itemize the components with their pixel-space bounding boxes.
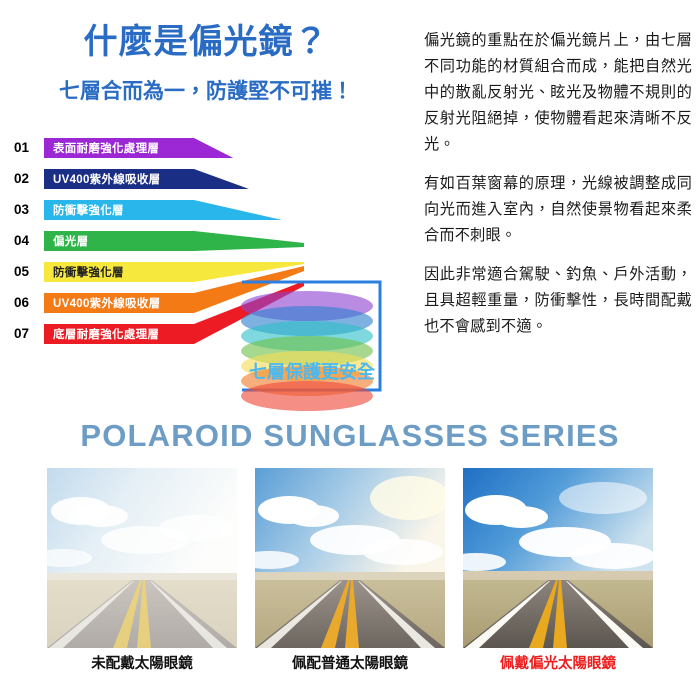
series-heading: POLAROID SUNGLASSES SERIES (0, 418, 700, 454)
layer-number: 05 (14, 264, 40, 279)
layer-number: 01 (14, 140, 40, 155)
article-paragraph-2: 有如百葉窗幕的原理，光線被調整成同向光而進入室內，自然使景物看起來柔合而不刺眼。 (424, 171, 692, 249)
article-column: 偏光鏡的重點在於偏光鏡片上，由七層不同功能的材質組合而成，能把自然光中的散亂反射… (424, 28, 692, 353)
layer-label: 底層耐磨強化處理層 (44, 326, 159, 342)
layer-taper-icon (194, 231, 304, 251)
layer-label: 表面耐磨強化處理層 (44, 140, 159, 156)
layer-band-body: 防衝擊強化層 (44, 262, 194, 282)
photo-caption: 未配戴太陽眼鏡 (47, 652, 237, 673)
page-subtitle: 七層合而為一，防護堅不可摧！ (0, 75, 412, 105)
headline-block: 什麼是偏光鏡？ 七層合而為一，防護堅不可摧！ (0, 24, 412, 105)
layer-band-body: 底層耐磨強化處理層 (44, 324, 194, 344)
layer-number: 06 (14, 295, 40, 310)
lens-disc-stack-icon (232, 288, 382, 418)
layer-row: 02 UV400紫外線吸收層 (14, 169, 414, 191)
layer-number: 02 (14, 171, 40, 186)
page-title: 什麼是偏光鏡？ (0, 24, 412, 61)
layer-label: 防衝擊強化層 (44, 202, 124, 218)
layer-row: 03 防衝擊強化層 (14, 200, 414, 222)
layer-label: UV400紫外線吸收層 (44, 295, 160, 311)
road-no-sunglasses (47, 468, 237, 648)
layer-band-body: 偏光層 (44, 231, 194, 251)
layer-band-body: 防衝擊強化層 (44, 200, 194, 220)
layer-number: 07 (14, 326, 40, 341)
layer-number: 04 (14, 233, 40, 248)
article-paragraph-1: 偏光鏡的重點在於偏光鏡片上，由七層不同功能的材質組合而成，能把自然光中的散亂反射… (424, 28, 692, 158)
layer-label: UV400紫外線吸收層 (44, 171, 160, 187)
layer-label: 偏光層 (44, 233, 88, 249)
photo-caption-row: 未配戴太陽眼鏡 佩配普通太陽眼鏡 佩戴偏光太陽眼鏡 (47, 652, 653, 680)
photo-caption: 佩戴偏光太陽眼鏡 (463, 652, 653, 673)
seven-layer-diagram: 01 表面耐磨強化處理層 02 UV400紫外線吸收層 (0, 138, 420, 378)
layer-row: 04 偏光層 (14, 231, 414, 253)
article-paragraph-3: 因此非常適合駕駛、釣魚、戶外活動，且具超輕重量，防衝擊性，長時間配戴也不會感到不… (424, 262, 692, 340)
layer-number: 03 (14, 202, 40, 217)
seven-layer-caption: 七層保護更安全 (222, 358, 402, 384)
layer-label: 防衝擊強化層 (44, 264, 124, 280)
layer-band-body: UV400紫外線吸收層 (44, 293, 194, 313)
poster-root: 什麼是偏光鏡？ 七層合而為一，防護堅不可摧！ 偏光鏡的重點在於偏光鏡片上，由七層… (0, 0, 700, 700)
road-polarized-sunglasses (463, 468, 653, 648)
layer-taper-icon (194, 200, 304, 220)
road-normal-sunglasses (255, 468, 445, 648)
layer-row: 01 表面耐磨強化處理層 (14, 138, 414, 160)
photo-comparison-row (47, 468, 653, 648)
layer-taper-icon (194, 138, 304, 158)
layer-band-body: 表面耐磨強化處理層 (44, 138, 194, 158)
layer-band-body: UV400紫外線吸收層 (44, 169, 194, 189)
photo-caption: 佩配普通太陽眼鏡 (255, 652, 445, 673)
layer-taper-icon (194, 169, 304, 189)
